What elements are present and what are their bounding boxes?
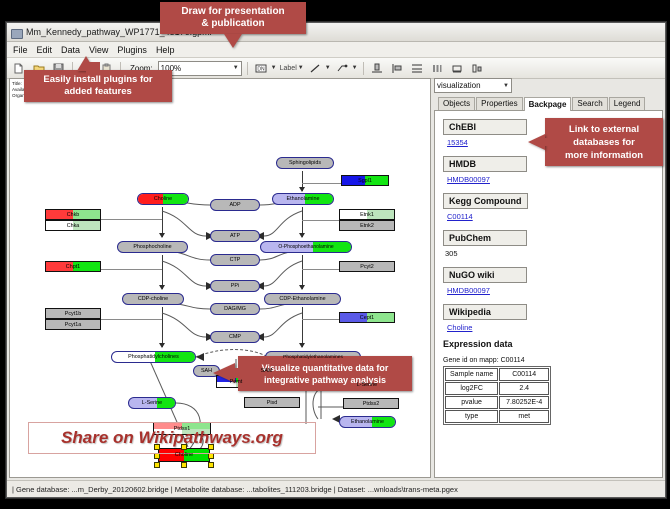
chevron-down-icon[interactable]: ▼ (325, 65, 331, 71)
menu-item-file[interactable]: File (13, 45, 28, 55)
label-tool-label: Label (280, 65, 297, 72)
pathvisio-icon (11, 27, 22, 38)
annotation-plugins-arrow-stem (86, 62, 100, 74)
node-label: Ethanolamine (351, 419, 384, 425)
gene-etnk1[interactable]: Etnk1 (339, 209, 395, 220)
node-label: Sphingolipids (289, 160, 321, 166)
node-label: SAH (201, 368, 212, 374)
annotation-draw-arrow (224, 34, 242, 48)
stack-icon[interactable] (429, 60, 446, 77)
node-ctp[interactable]: CTP (210, 254, 260, 266)
backpage-value-pubchem: 305 (445, 249, 662, 258)
distribute-icon[interactable] (409, 60, 426, 77)
table-row: type met (445, 410, 549, 423)
chevron-down-icon: ▼ (233, 65, 239, 71)
annotation-share-text: Share on Wikipathways.org (61, 428, 283, 448)
sidebar-tabs: Objects Properties Backpage Search Legen… (434, 96, 663, 111)
node-label: O-Phosphoethanolamine (278, 244, 333, 250)
node-label: L-Serine (357, 382, 377, 388)
node-cdp-ethanolamine[interactable]: CDP-Ethanolamine (264, 293, 341, 305)
node-label: CMP (229, 334, 241, 340)
gene-label: Ptdss1 (174, 426, 190, 432)
toolbar-separator (247, 62, 248, 75)
cell-key: log2FC (445, 382, 498, 395)
node-label: Phosphocholine (133, 244, 171, 250)
node-cmp[interactable]: CMP (210, 331, 260, 343)
group-icon[interactable] (449, 60, 466, 77)
annotation-draw-line2: & publication (201, 18, 264, 30)
chevron-down-icon[interactable]: ▼ (298, 65, 304, 71)
menu-item-plugins[interactable]: Plugins (117, 45, 147, 55)
node-label: CDP-Ethanolamine (279, 296, 325, 302)
gene-label: Pcyt1b (65, 311, 81, 317)
node-label: CDP-choline (138, 296, 168, 302)
node-adp[interactable]: ADP (210, 199, 260, 211)
node-sphingolipids[interactable]: Sphingolipids (276, 157, 334, 169)
gene-sgpl1[interactable]: Sgpl1 (341, 175, 389, 186)
menu-item-edit[interactable]: Edit (37, 45, 53, 55)
gene-pcyt2[interactable]: Pcyt2 (339, 261, 395, 272)
expression-data-title: Expression data (443, 339, 662, 349)
backpage-header-nugo: NuGO wiki (443, 267, 527, 283)
gene-label: Chpt1 (66, 264, 80, 270)
cell-value: 2.4 (499, 382, 549, 395)
chevron-down-icon[interactable]: ▼ (271, 65, 277, 71)
ungroup-icon[interactable] (469, 60, 486, 77)
anchor-dropdown[interactable]: ▼ (334, 60, 358, 77)
menu-item-data[interactable]: Data (61, 45, 80, 55)
chevron-down-icon[interactable]: ▼ (352, 65, 358, 71)
node-label: SAM (261, 368, 273, 374)
node-choline[interactable]: Choline (137, 193, 189, 205)
menu-item-view[interactable]: View (89, 45, 108, 55)
visualization-value: visualization (437, 81, 481, 90)
table-row: log2FC 2.4 (445, 382, 549, 395)
line-icon[interactable] (307, 60, 324, 77)
annotation-visualize-line1: Visualize quantitative data for (262, 362, 389, 374)
node-label: Choline (175, 452, 193, 458)
menu-item-help[interactable]: Help (156, 45, 175, 55)
tab-properties[interactable]: Properties (476, 97, 522, 110)
datanode-dropdown[interactable]: DN ▼ (253, 60, 277, 77)
node-ethanolamine-bottom[interactable]: Ethanolamine (339, 416, 396, 428)
visualization-select[interactable]: visualization ▼ (434, 78, 512, 93)
gene-pcyt1b[interactable]: Pcyt1b (45, 308, 101, 319)
chevron-down-icon: ▼ (503, 83, 509, 89)
tab-search[interactable]: Search (572, 97, 607, 110)
anchor-icon[interactable] (334, 60, 351, 77)
node-ppi[interactable]: PPi (210, 280, 260, 292)
annotation-visualize-arrow-stem (226, 368, 240, 378)
svg-text:DN: DN (258, 66, 266, 72)
toolbar-separator (363, 62, 364, 75)
datanode-icon[interactable]: DN (253, 60, 270, 77)
gene-cept1[interactable]: Cept1 (339, 312, 395, 323)
node-label: CTP (230, 257, 241, 263)
gene-label: Chkb (67, 212, 80, 218)
pathway-canvas[interactable]: Title: Availa Organ (9, 78, 431, 478)
annotation-links-line1: Link to external (569, 123, 639, 136)
gene-label: Pemt (230, 379, 243, 385)
cell-key: pvalue (445, 396, 498, 409)
annotation-links: Link to external databases for more info… (545, 118, 663, 166)
selection-handle[interactable] (154, 462, 160, 468)
menu-bar: File Edit Data View Plugins Help (7, 42, 665, 58)
cell-value: C00114 (499, 368, 549, 381)
backpage-link-wikipedia[interactable]: Choline (447, 323, 662, 332)
gene-label: Pisd (267, 400, 278, 406)
cell-value: met (499, 410, 549, 423)
title-bar: Mm_Kennedy_pathway_WP1771_45176.gpml (7, 23, 665, 42)
gene-label: Pcyt2 (360, 264, 373, 270)
annotation-links-line3: more information (565, 149, 643, 162)
annotation-draw: Draw for presentation & publication (160, 2, 306, 34)
node-o-phosphoethanolamine[interactable]: O-Phosphoethanolamine (260, 241, 352, 253)
backpage-header-chebi: ChEBI (443, 119, 527, 135)
node-label: DAG/MG (224, 306, 246, 312)
node-label: L-Serine (142, 400, 162, 406)
gene-ptdss2[interactable]: Ptdss2 (343, 398, 399, 409)
status-bar: | Gene database: ...m_Derby_20120602.bri… (7, 480, 665, 497)
gene-pcyt1a[interactable]: Pcyt1a (45, 319, 101, 330)
node-dag-mg[interactable]: DAG/MG (210, 303, 260, 315)
align-left-icon[interactable] (389, 60, 406, 77)
backpage-header-hmdb: HMDB (443, 156, 527, 172)
gene-label: Ptdss2 (363, 401, 379, 407)
annotation-draw-line1: Draw for presentation (181, 6, 284, 18)
node-label: Phosphatidylcholines (128, 354, 179, 360)
backpage-link-kegg[interactable]: C00114 (447, 212, 662, 221)
label-dropdown[interactable]: Label ▼ (280, 65, 304, 72)
tab-objects[interactable]: Objects (438, 97, 475, 110)
table-row: pvalue 7.80252E-4 (445, 396, 549, 409)
visualization-row: visualization ▼ (434, 78, 663, 93)
gene-label: Pcyt1a (65, 322, 81, 328)
node-label: ADP (229, 202, 240, 208)
node-phosphatidylcholines[interactable]: Phosphatidylcholines (111, 351, 196, 363)
node-l-serine-left[interactable]: L-Serine (128, 397, 176, 409)
annotation-links-arrow-stem (538, 138, 548, 146)
node-label: Phosphatidylethanolamines (283, 355, 343, 360)
annotation-share: Share on Wikipathways.org (28, 422, 316, 454)
backpage-link-hmdb[interactable]: HMDB00097 (447, 175, 662, 184)
tab-backpage[interactable]: Backpage (524, 97, 572, 111)
gene-label: Etnk1 (360, 212, 374, 218)
gene-etnk2[interactable]: Etnk2 (339, 220, 395, 231)
status-text: | Gene database: ...m_Derby_20120602.bri… (12, 485, 458, 494)
node-label: Ethanolamine (287, 196, 320, 202)
gene-chka[interactable]: Chka (45, 220, 101, 231)
node-phosphocholine[interactable]: Phosphocholine (117, 241, 188, 253)
backpage-header-wikipedia: Wikipedia (443, 304, 527, 320)
selection-handle[interactable] (208, 462, 214, 468)
gene-label: Sgpl1 (358, 178, 372, 184)
gene-chpt1[interactable]: Chpt1 (45, 261, 101, 272)
gene-label: Cept1 (360, 315, 374, 321)
gene-label: Etnk2 (360, 223, 374, 229)
backpage-panel: ChEBI 15354 HMDB HMDB00097 Kegg Compound… (434, 111, 663, 478)
expression-table: Sample name C00114 log2FC 2.4 pvalue 7.8… (443, 366, 551, 425)
tab-legend[interactable]: Legend (609, 97, 646, 110)
screenshot-root: Mm_Kennedy_pathway_WP1771_45176.gpml Fil… (0, 0, 670, 509)
annotation-plugins: Easily install plugins for added feature… (24, 70, 172, 102)
node-ethanolamine-top[interactable]: Ethanolamine (272, 193, 334, 205)
node-cdp-choline[interactable]: CDP-choline (122, 293, 184, 305)
backpage-link-nugo[interactable]: HMDB00097 (447, 286, 662, 295)
selection-handle[interactable] (181, 462, 187, 468)
table-row: Sample name C00114 (445, 368, 549, 381)
node-atp[interactable]: ATP (210, 230, 260, 242)
annotation-links-line2: databases for (573, 136, 635, 149)
node-label: PPi (231, 283, 239, 289)
cell-key: type (445, 410, 498, 423)
node-label: ATP (230, 233, 240, 239)
cell-value: 7.80252E-4 (499, 396, 549, 409)
gene-id-line: Gene id on mapp: C00114 (443, 357, 662, 364)
backpage-header-pubchem: PubChem (443, 230, 527, 246)
align-bottom-icon[interactable] (369, 60, 386, 77)
line-dropdown[interactable]: ▼ (307, 60, 331, 77)
gene-pisd[interactable]: Pisd (244, 397, 300, 408)
gene-label: Chka (67, 223, 80, 229)
gene-chkb[interactable]: Chkb (45, 209, 101, 220)
cell-key: Sample name (445, 368, 498, 381)
annotation-plugins-line1: Easily install plugins for (43, 74, 152, 86)
node-label: Choline (154, 196, 172, 202)
annotation-plugins-line2: added features (64, 86, 132, 98)
backpage-header-kegg: Kegg Compound (443, 193, 528, 209)
